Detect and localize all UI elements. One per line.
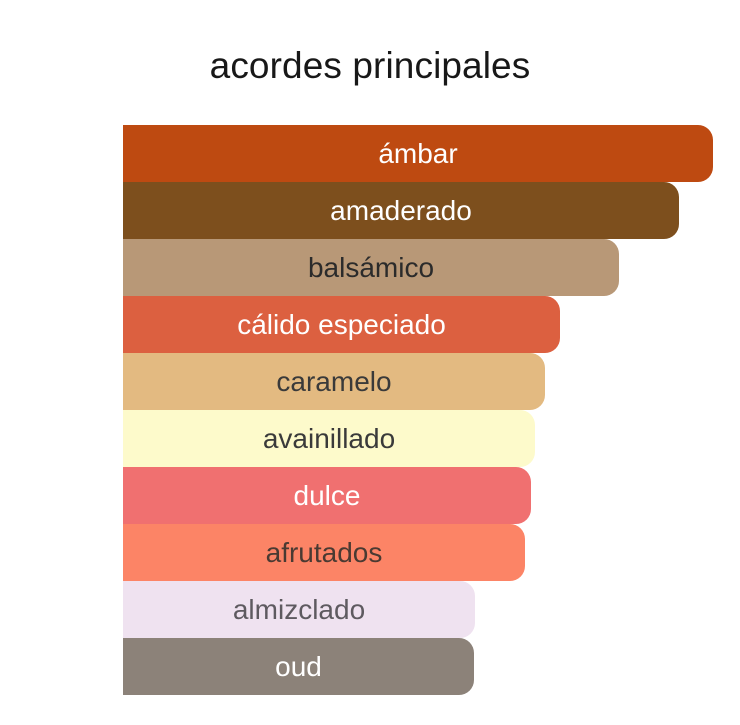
bar-label: balsámico — [123, 239, 619, 296]
bar-row[interactable]: ámbar — [123, 125, 713, 182]
bar-row[interactable]: avainillado — [123, 410, 535, 467]
bar-row[interactable]: oud — [123, 638, 474, 695]
bar-label: dulce — [123, 467, 531, 524]
bar-label: almizclado — [123, 581, 475, 638]
bar-label: amaderado — [123, 182, 679, 239]
bar-label: oud — [123, 638, 474, 695]
bar-row[interactable]: amaderado — [123, 182, 679, 239]
bar-label: caramelo — [123, 353, 545, 410]
bar-row[interactable]: almizclado — [123, 581, 475, 638]
bar-row[interactable]: afrutados — [123, 524, 525, 581]
bar-label: ámbar — [123, 125, 713, 182]
bar-row[interactable]: dulce — [123, 467, 531, 524]
bar-label: avainillado — [123, 410, 535, 467]
bar-row[interactable]: balsámico — [123, 239, 619, 296]
bar-label: cálido especiado — [123, 296, 560, 353]
bar-list: ámbaramaderadobalsámicocálido especiadoc… — [0, 0, 740, 725]
bar-row[interactable]: caramelo — [123, 353, 545, 410]
bar-row[interactable]: cálido especiado — [123, 296, 560, 353]
main-accords-chart: acordes principales ámbaramaderadobalsám… — [0, 0, 740, 725]
bar-label: afrutados — [123, 524, 525, 581]
